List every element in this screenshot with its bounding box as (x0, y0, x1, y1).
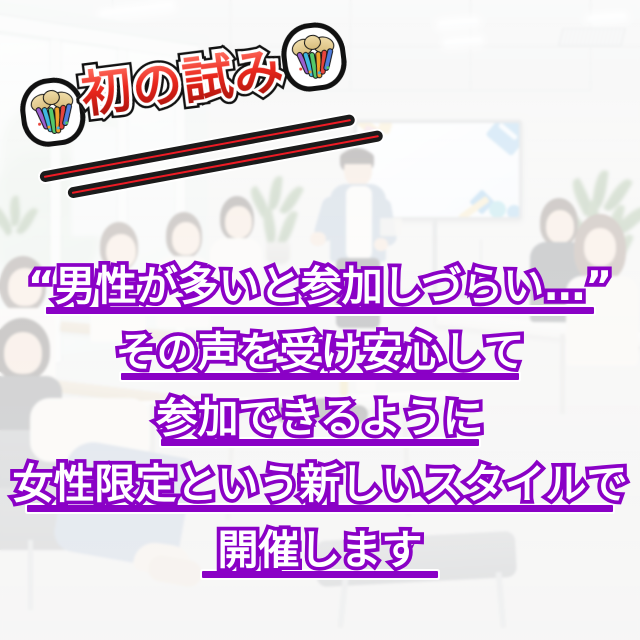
message-line-text: その声を受け安心して (116, 328, 525, 376)
message-line: 女性限定という新しいスタイルで 女性限定という新しいスタイルで (0, 460, 640, 526)
message-line: その声を受け安心して その声を受け安心して (0, 328, 640, 394)
message-line-text: 女性限定という新しいスタイルで (13, 460, 628, 508)
poster-canvas: 初の試み 初の試み 初の試み (0, 0, 640, 640)
message-line-text: 開催します (218, 526, 423, 574)
confetti-ball-icon (281, 22, 346, 91)
title-fill: 初の試み (79, 45, 288, 120)
message-line: “男性が多いと参加しづらい…” “男性が多いと参加しづらい…” (0, 262, 640, 328)
message-line-text: 参加できるように (156, 394, 483, 442)
message-line-text: “男性が多いと参加しづらい…” (28, 262, 612, 310)
message-line: 開催します 開催します (0, 526, 640, 592)
confetti-ball-icon (20, 78, 85, 147)
header-badge-title: 初の試み 初の試み 初の試み (79, 45, 288, 120)
message-line: 参加できるように 参加できるように (0, 394, 640, 460)
message-block: “男性が多いと参加しづらい…” “男性が多いと参加しづらい…” その声を受け安心… (0, 262, 640, 592)
